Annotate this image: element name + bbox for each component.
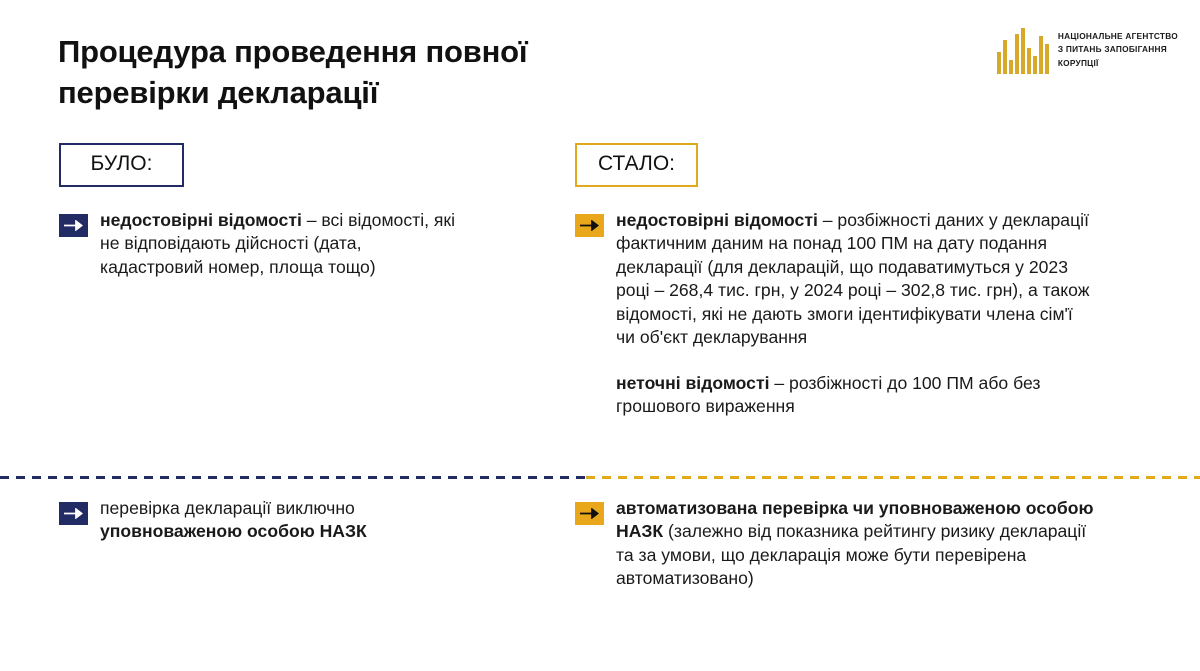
list-item-body: перевірка декларації виключно xyxy=(100,498,355,518)
list-item-paragraph-2: неточні відомості – розбіжності до 100 П… xyxy=(616,372,1095,419)
list-item: перевірка декларації виключно уповноваже… xyxy=(59,497,489,544)
list-item-term: неточні відомості xyxy=(616,373,769,393)
arrow-right-icon xyxy=(59,214,88,237)
logo-bars-icon xyxy=(997,28,1049,74)
list-item-body: – розбіжності даних у декларації фактичн… xyxy=(616,210,1090,347)
list-item-text: автоматизована перевірка чи уповноважено… xyxy=(616,497,1095,591)
list-item: недостовірні відомості – розбіжності дан… xyxy=(575,209,1095,419)
nazk-logo: Національне агентство з питань запобіган… xyxy=(997,28,1178,74)
logo-text: Національне агентство з питань запобіган… xyxy=(1058,28,1178,70)
list-item: недостовірні відомості – всі відомості, … xyxy=(59,209,459,279)
column-header-before: БУЛО: xyxy=(59,143,184,187)
arrow-right-icon xyxy=(59,502,88,525)
list-item-text: перевірка декларації виключно уповноваже… xyxy=(100,497,489,544)
list-item-body: (залежно від показника рейтингу ризику д… xyxy=(616,521,1086,588)
arrow-right-icon xyxy=(575,502,604,525)
page-title: Процедура проведення повної перевірки де… xyxy=(58,32,678,114)
divider-segment-gold xyxy=(586,476,1200,479)
section-divider xyxy=(0,476,1200,479)
list-item-term: уповноваженою особою НАЗК xyxy=(100,521,367,541)
arrow-right-icon xyxy=(575,214,604,237)
list-item-term: недостовірні відомості xyxy=(100,210,302,230)
list-item-text: недостовірні відомості – всі відомості, … xyxy=(100,209,459,279)
list-item-text: недостовірні відомості – розбіжності дан… xyxy=(616,209,1095,419)
column-header-after: СТАЛО: xyxy=(575,143,698,187)
divider-segment-navy xyxy=(0,476,586,479)
list-item: автоматизована перевірка чи уповноважено… xyxy=(575,497,1095,591)
list-item-term: недостовірні відомості xyxy=(616,210,818,230)
list-item-paragraph-1: недостовірні відомості – розбіжності дан… xyxy=(616,209,1095,350)
